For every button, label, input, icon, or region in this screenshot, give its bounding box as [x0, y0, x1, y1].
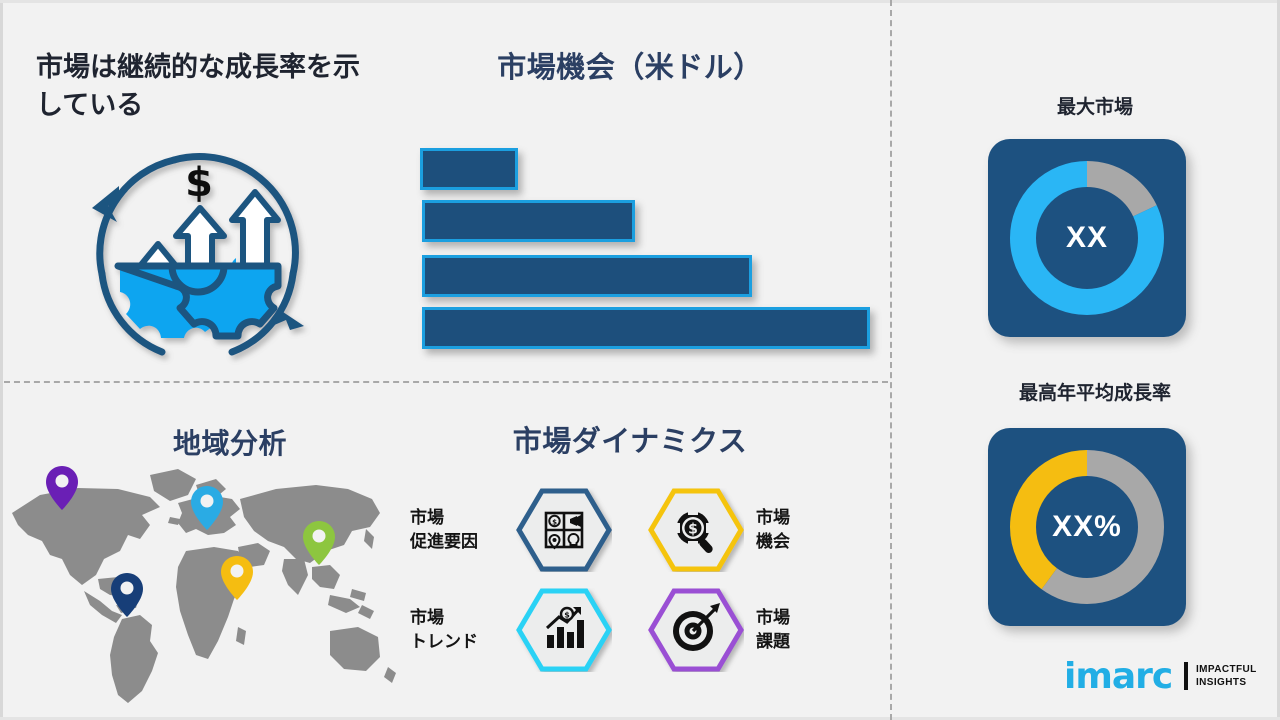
logo-divider-bar: [1184, 662, 1188, 690]
horizontal-dashed-divider: [4, 381, 888, 383]
frame-border-top: [0, 0, 1280, 3]
dynamics-label-drivers-line2: 促進要因: [410, 530, 478, 554]
dynamics-label-trends: 市場 トレンド: [410, 588, 516, 672]
pin-middle-east[interactable]: [220, 555, 254, 601]
dynamics-label-opportunities-line1: 市場: [756, 506, 790, 530]
opportunity-panel-title: 市場機会（米ドル）: [400, 48, 860, 88]
dynamics-label-opportunities-line2: 機会: [756, 530, 790, 554]
slide-canvas: 市場は継続的な成長率を示している $: [0, 0, 1280, 720]
dynamics-hex-trends[interactable]: $: [516, 588, 612, 672]
dynamics-label-challenges-line1: 市場: [756, 606, 790, 630]
pin-south-america[interactable]: [110, 572, 144, 618]
bar-1: [420, 148, 518, 190]
imarc-logo[interactable]: imarc IMPACTFUL INSIGHTS: [1060, 652, 1260, 700]
dynamics-hex-opportunities[interactable]: $: [648, 488, 744, 572]
dynamics-panel-title: 市場ダイナミクス: [420, 422, 840, 462]
bar-3: [422, 255, 752, 297]
imarc-tagline-line2: INSIGHTS: [1196, 676, 1257, 689]
largest-market-title: 最大市場: [960, 92, 1230, 119]
imarc-wordmark: imarc: [1064, 656, 1172, 697]
dynamics-label-drivers: 市場 促進要因: [410, 488, 516, 572]
imarc-tagline-line1: IMPACTFUL: [1196, 663, 1257, 676]
growth-panel-title: 市場は継続的な成長率を示している: [36, 48, 386, 124]
largest-market-card: XX: [988, 139, 1186, 337]
svg-text:$: $: [688, 522, 698, 538]
world-map: [0, 455, 400, 705]
pin-north-america[interactable]: [45, 465, 79, 511]
imarc-tagline: IMPACTFUL INSIGHTS: [1196, 663, 1257, 689]
pin-europe[interactable]: [190, 485, 224, 531]
dynamics-label-trends-line2: トレンド: [410, 630, 478, 654]
highest-cagr-title: 最高年平均成長率: [955, 378, 1235, 405]
dynamics-hex-drivers[interactable]: $: [516, 488, 612, 572]
market-opportunity-bar-chart: [400, 140, 890, 355]
svg-text:$: $: [552, 519, 557, 527]
svg-text:$: $: [185, 160, 213, 206]
growth-cycle-gear-icon: $: [72, 124, 322, 370]
dynamics-label-challenges-line2: 課題: [756, 630, 790, 654]
dynamics-label-drivers-line1: 市場: [410, 506, 444, 530]
bar-2: [422, 200, 635, 242]
dynamics-hex-challenges[interactable]: [648, 588, 744, 672]
dynamics-label-trends-line1: 市場: [410, 606, 444, 630]
highest-cagr-card: XX%: [988, 428, 1186, 626]
svg-text:$: $: [564, 611, 570, 620]
pin-east-asia[interactable]: [302, 520, 336, 566]
bar-4: [422, 307, 870, 349]
highest-cagr-donut-chart: [988, 428, 1186, 626]
dynamics-label-challenges: 市場 課題: [756, 588, 862, 672]
largest-market-donut-chart: [988, 139, 1186, 337]
dynamics-label-opportunities: 市場 機会: [756, 488, 862, 572]
